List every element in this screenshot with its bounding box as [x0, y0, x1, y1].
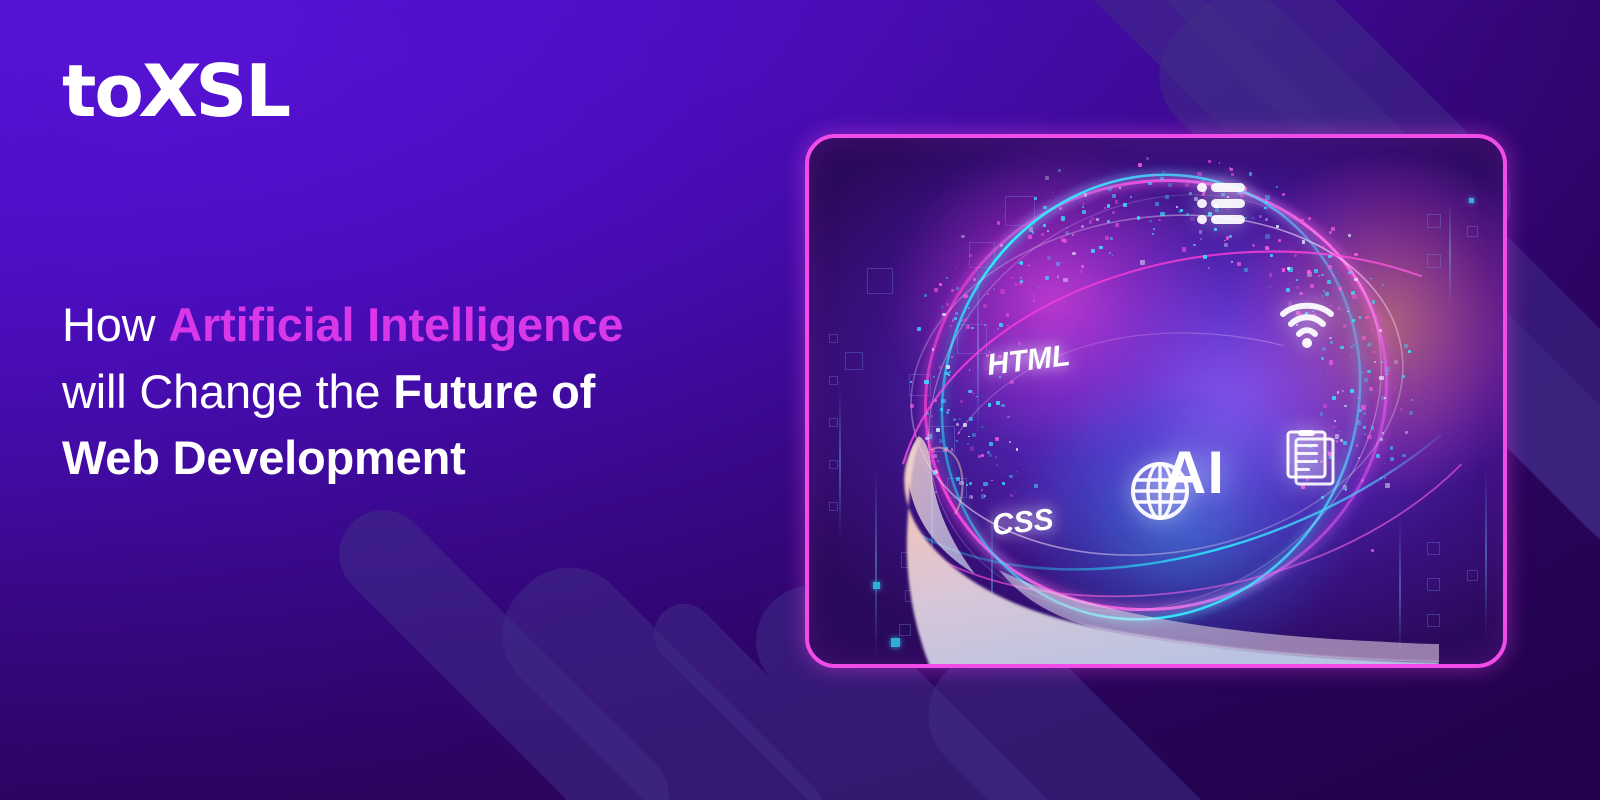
particle [1000, 244, 1003, 247]
particle [1367, 370, 1371, 374]
particle [939, 366, 942, 369]
particle [1189, 192, 1192, 195]
particle [1115, 200, 1119, 204]
particle [1182, 247, 1187, 252]
particle [1379, 329, 1382, 332]
particle [969, 254, 972, 257]
particle [999, 323, 1003, 327]
particle [1059, 207, 1062, 210]
particle [997, 221, 1000, 224]
particle [1353, 344, 1355, 346]
css-label: CSS [990, 503, 1055, 543]
particle [1344, 405, 1347, 408]
particle [1307, 270, 1311, 274]
particle [1219, 162, 1221, 164]
particle [1208, 267, 1210, 269]
particle [945, 372, 949, 376]
particle [1007, 325, 1009, 327]
particle [1061, 216, 1065, 220]
particle [1252, 244, 1255, 247]
particle [1348, 307, 1351, 310]
particle [1276, 225, 1279, 228]
particle [946, 303, 949, 306]
particle [1110, 237, 1113, 240]
particle [1322, 246, 1325, 249]
particle [1340, 346, 1343, 349]
particle [1338, 307, 1341, 310]
particle [1329, 360, 1334, 365]
logo-text-part-1: to [62, 49, 142, 133]
particle [1056, 262, 1060, 266]
particle [1226, 236, 1230, 240]
particle [1374, 361, 1376, 363]
particle [1372, 391, 1374, 393]
particle [1105, 236, 1109, 240]
particle [1224, 240, 1226, 242]
particle [968, 390, 972, 394]
stripe-6 [478, 543, 853, 800]
particle [1165, 195, 1169, 199]
page-title: How Artificial Intelligence will Change … [62, 292, 782, 492]
particle [1229, 235, 1232, 238]
particle [1411, 399, 1413, 401]
particle [934, 399, 938, 403]
particle [1249, 172, 1253, 176]
particle [1203, 255, 1207, 259]
particle [1379, 376, 1383, 380]
particle [1199, 230, 1202, 233]
particle [1029, 227, 1034, 232]
particle [966, 325, 970, 329]
particle [956, 287, 959, 290]
particle [988, 403, 992, 407]
particle [1265, 201, 1268, 204]
particle [1245, 217, 1247, 219]
particle [1084, 193, 1088, 197]
particle [1153, 228, 1156, 231]
particle [1123, 203, 1128, 208]
particle [1332, 396, 1336, 400]
particle [917, 327, 921, 331]
particle [1130, 196, 1132, 198]
particle [973, 278, 976, 281]
particle [961, 319, 963, 321]
particle [910, 404, 914, 408]
particle [1152, 233, 1154, 235]
particle [1302, 240, 1306, 244]
particle [1270, 254, 1273, 257]
particle [1299, 292, 1303, 296]
particle [1394, 360, 1398, 364]
particle [1352, 294, 1356, 298]
particle [973, 393, 975, 395]
particle [1348, 234, 1351, 237]
particle [1354, 253, 1358, 257]
particle [1080, 270, 1083, 273]
particle [976, 396, 978, 398]
particle [1028, 265, 1030, 267]
particle [1158, 219, 1161, 222]
particle [1325, 292, 1329, 296]
headline-bold-1: Future of [393, 365, 595, 418]
wifi-icon [1279, 300, 1335, 348]
particle [1342, 390, 1344, 392]
particle [1149, 220, 1151, 222]
particle [984, 324, 987, 327]
headline-plain-2: will Change the [62, 365, 393, 418]
particle [1384, 397, 1386, 399]
particle [1033, 295, 1035, 297]
particle [1066, 227, 1068, 229]
particle [1082, 210, 1086, 214]
particle [1328, 265, 1332, 269]
particle [1370, 278, 1372, 280]
particle [964, 319, 967, 322]
particle [993, 288, 995, 290]
particle [1259, 215, 1262, 218]
particle [1313, 231, 1316, 234]
particle [1282, 193, 1285, 196]
particle [1347, 311, 1349, 313]
particle [1190, 217, 1194, 221]
particle [1367, 344, 1370, 347]
particle [1185, 183, 1189, 187]
particle [1081, 265, 1084, 268]
particle [1096, 218, 1099, 221]
particle [1322, 295, 1324, 297]
particle [1286, 288, 1290, 292]
particle [1112, 211, 1115, 214]
particle [1343, 324, 1348, 329]
particle [1329, 231, 1332, 234]
documents-icon [1285, 430, 1337, 488]
particle [1365, 316, 1369, 320]
particle [1061, 262, 1063, 264]
particle [1058, 169, 1061, 172]
particle [1314, 269, 1318, 273]
particle [960, 400, 963, 403]
particle [1327, 280, 1331, 284]
particle [987, 293, 989, 295]
particle [1186, 213, 1190, 217]
particle [1099, 246, 1103, 250]
particle [971, 327, 973, 329]
particle [1362, 336, 1366, 340]
particle [1089, 220, 1093, 224]
particle [1269, 273, 1272, 276]
particle [997, 328, 999, 330]
particle [1321, 357, 1324, 360]
particle [942, 313, 945, 316]
particle [1020, 277, 1022, 279]
list-icon [1197, 181, 1245, 227]
particle [1146, 157, 1149, 160]
particle [934, 288, 938, 292]
particle [1350, 389, 1354, 393]
particle [1265, 246, 1269, 250]
particle [1010, 380, 1014, 384]
particle [1047, 230, 1049, 232]
particle [1352, 319, 1355, 322]
banner-stage: toXSL How Artificial Intelligence will C… [0, 0, 1600, 800]
particle [1137, 216, 1141, 220]
particle [946, 277, 948, 279]
particle [1402, 375, 1405, 378]
particle [981, 321, 983, 323]
particle [1104, 207, 1106, 209]
particle [1386, 373, 1388, 375]
particle [1072, 234, 1074, 236]
particle [1148, 182, 1151, 185]
particle [1332, 274, 1334, 276]
particle [1265, 195, 1270, 200]
particle [1214, 228, 1217, 231]
particle [1289, 282, 1291, 284]
particle [1231, 173, 1234, 176]
particle [1372, 300, 1376, 304]
particle [929, 401, 931, 403]
globe-icon [1129, 460, 1191, 522]
particle [1043, 206, 1047, 210]
particle [1160, 177, 1164, 181]
particle [1155, 202, 1159, 206]
particle [1224, 243, 1228, 247]
particle [1408, 350, 1411, 353]
particle [1077, 197, 1079, 199]
particle [1282, 268, 1285, 271]
logo-text-part-x: X [137, 55, 200, 127]
particle [1108, 187, 1112, 191]
particle [1001, 404, 1005, 408]
particle [1394, 388, 1396, 390]
particle [1276, 186, 1278, 188]
particle [1197, 172, 1202, 177]
particle [1350, 346, 1352, 348]
particle [946, 365, 950, 369]
particle [1373, 351, 1375, 353]
headline-accent: Artificial Intelligence [168, 298, 623, 351]
particle [1244, 268, 1248, 272]
headline-line-1: How Artificial Intelligence [62, 292, 782, 359]
particle [1200, 238, 1202, 240]
logo-text-part-2: SL [195, 49, 289, 133]
particle [1178, 210, 1181, 213]
particle [963, 294, 967, 298]
particle [1296, 279, 1299, 282]
particle [1081, 225, 1084, 228]
particle [1321, 274, 1324, 277]
particle [1404, 344, 1408, 348]
particle [1339, 287, 1343, 291]
particle [1385, 367, 1390, 372]
headline-line-3: Web Development [62, 425, 782, 492]
particle [949, 371, 951, 373]
particle [1052, 192, 1054, 194]
particle [1000, 289, 1005, 294]
particle [1359, 316, 1362, 319]
stripe-5 [321, 492, 687, 800]
particle [1270, 286, 1272, 288]
particle [1034, 197, 1037, 200]
particle [954, 317, 957, 320]
particle [941, 399, 945, 403]
particle [1033, 300, 1035, 302]
particle [982, 395, 984, 397]
particle [1168, 183, 1172, 187]
particle [1063, 278, 1067, 282]
particle [1063, 239, 1067, 243]
particle [924, 380, 928, 384]
particle [1160, 212, 1165, 217]
particle [1072, 252, 1076, 256]
particle [1361, 372, 1363, 374]
particle [1265, 234, 1270, 239]
particle [1107, 204, 1110, 207]
particle [1045, 176, 1049, 180]
particle [955, 312, 958, 315]
particle [1112, 194, 1116, 198]
particle [1310, 284, 1314, 288]
particle [1012, 277, 1014, 279]
particle [1032, 231, 1034, 233]
particle [1112, 255, 1114, 257]
particle [933, 376, 935, 378]
particle [1091, 249, 1095, 253]
particle [1006, 313, 1010, 317]
particle [1041, 233, 1045, 237]
headline-plain-1: How [62, 298, 168, 351]
particle [1020, 261, 1024, 265]
particle [1300, 219, 1304, 223]
particle [1208, 160, 1211, 163]
particle [1354, 278, 1358, 282]
particle [1140, 260, 1145, 265]
particle [1323, 404, 1328, 409]
particle [1308, 217, 1311, 220]
particle [1381, 361, 1383, 363]
particle [1264, 207, 1266, 209]
particle [1231, 261, 1233, 263]
particle [1318, 275, 1321, 278]
particle [939, 283, 942, 286]
particle [1382, 284, 1384, 286]
particle [910, 381, 912, 383]
particle [983, 304, 987, 308]
particle [1152, 175, 1154, 177]
toxsl-logo[interactable]: toXSL [62, 55, 289, 127]
particle [955, 268, 957, 270]
particle [1372, 329, 1374, 331]
particle [1265, 218, 1268, 221]
particle [969, 369, 971, 371]
particle [1082, 206, 1084, 208]
particle [1357, 397, 1360, 400]
particle [968, 307, 970, 309]
particle [942, 306, 944, 308]
particle [1327, 372, 1329, 374]
particle [932, 348, 935, 351]
particle [996, 401, 1000, 405]
headline-line-2: will Change the Future of [62, 359, 782, 426]
particle [1045, 276, 1049, 280]
particle [1364, 378, 1368, 382]
particle [1047, 256, 1051, 260]
particle [1004, 215, 1006, 217]
particle [1287, 267, 1290, 270]
particle [951, 356, 953, 358]
particle [1348, 271, 1351, 274]
particle [1028, 235, 1032, 239]
particle [1328, 255, 1331, 258]
particle [1268, 287, 1270, 289]
particle [1351, 355, 1353, 357]
particle [1109, 252, 1111, 254]
particle [1107, 220, 1110, 223]
particle [1193, 244, 1195, 246]
particle [1369, 387, 1373, 391]
particle [1337, 391, 1340, 394]
particle [1037, 286, 1040, 289]
particle [1083, 203, 1085, 205]
panel-inner: HTML CSS AI [809, 138, 1503, 664]
ai-illustration-panel: HTML CSS AI [805, 134, 1507, 668]
particle [1278, 239, 1281, 242]
particle [1043, 224, 1046, 227]
headline-bold-2: Web Development [62, 431, 466, 484]
particle [924, 294, 928, 298]
particle [950, 325, 953, 328]
particle [1138, 163, 1142, 167]
particle [1296, 286, 1300, 290]
particle [1162, 171, 1164, 173]
particle [961, 235, 964, 238]
particle [1237, 262, 1241, 266]
particle [1015, 283, 1018, 286]
particle [1176, 206, 1179, 209]
particle [1119, 187, 1122, 190]
particle [1065, 231, 1069, 235]
particle [1115, 223, 1119, 227]
particle [1020, 280, 1023, 283]
particle [1294, 254, 1297, 257]
particle [951, 289, 954, 292]
particle [1252, 217, 1254, 219]
